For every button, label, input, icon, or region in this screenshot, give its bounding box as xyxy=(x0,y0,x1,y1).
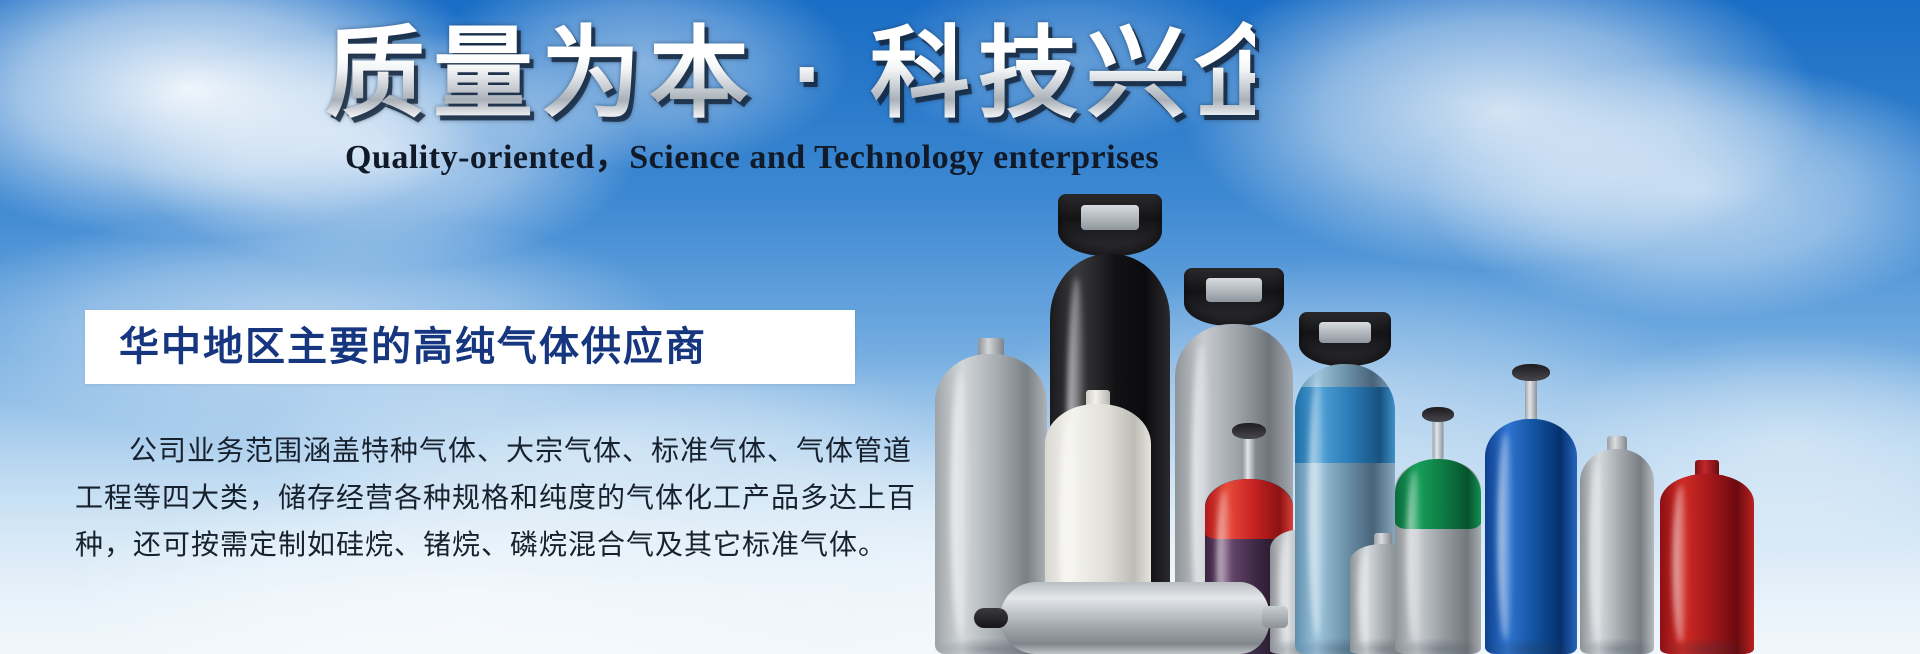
gas-cylinder-group-image xyxy=(940,130,1920,654)
banner-headline: 质量为本 · 科技兴企 xyxy=(325,20,1255,128)
banner-description: 公司业务范围涵盖特种气体、大宗气体、标准气体、气体管道 工程等四大类，储存经营各… xyxy=(75,428,865,569)
cylinder-shadow xyxy=(1485,638,1577,654)
cylinder-valve-knob xyxy=(1512,364,1550,381)
cylinder-shoulder xyxy=(1395,459,1481,529)
cylinder-valve-stem xyxy=(1243,435,1255,481)
blue-small-cylinder xyxy=(1485,419,1577,654)
cylinder-valve-stem xyxy=(1525,377,1537,421)
red-cylinder xyxy=(1660,474,1754,654)
cylinder-shadow xyxy=(1580,638,1654,654)
cylinder-valve-knob xyxy=(1232,423,1266,439)
cylinder-body xyxy=(1395,459,1481,654)
cylinder-shadow xyxy=(1660,638,1754,654)
description-line: 种，还可按需定制如硅烷、锗烷、磷烷混合气及其它标准气体。 xyxy=(75,522,865,569)
cylinder-shadow xyxy=(1395,638,1481,654)
cylinder-valve-stem xyxy=(1433,419,1444,459)
cylinder-valve-cap xyxy=(1184,268,1284,326)
banner-text-column: 质量为本 · 科技兴企 Quality-oriented，Science and… xyxy=(0,0,980,654)
banner-subtitle: Quality-oriented，Science and Technology … xyxy=(345,138,1235,178)
cylinder-body xyxy=(1485,419,1577,654)
cylinder-body xyxy=(1660,474,1754,654)
cylinder-body xyxy=(1580,449,1654,654)
promotional-banner: 质量为本 · 科技兴企 Quality-oriented，Science and… xyxy=(0,0,1920,654)
description-line: 工程等四大类，储存经营各种规格和纯度的气体化工产品多达上百 xyxy=(75,475,865,522)
lying-cylinder xyxy=(1000,582,1270,654)
callout-box: 华中地区主要的高纯气体供应商 xyxy=(85,310,855,384)
green-cylinder xyxy=(1395,459,1481,654)
callout-text: 华中地区主要的高纯气体供应商 xyxy=(85,324,707,370)
description-line: 公司业务范围涵盖特种气体、大宗气体、标准气体、气体管道 xyxy=(75,428,865,475)
aluminium-cylinder xyxy=(1580,449,1654,654)
cylinder-color-band xyxy=(1295,387,1395,462)
cylinder-valve-knob xyxy=(1422,407,1454,422)
cylinder-valve-cap xyxy=(1058,194,1162,256)
cylinder-valve-cap xyxy=(1299,312,1391,366)
